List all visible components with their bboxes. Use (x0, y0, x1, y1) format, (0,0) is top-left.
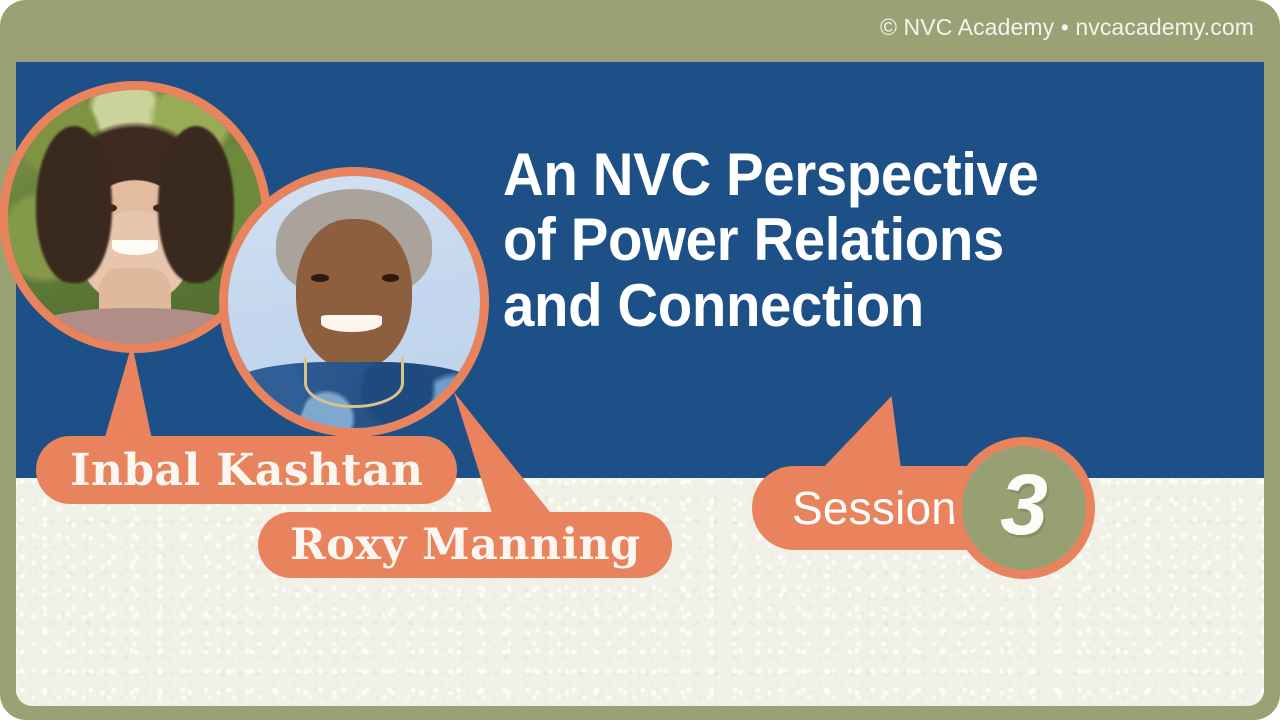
eye-right-shape (382, 274, 400, 282)
slide-canvas: © NVC Academy • nvcacademy.com (0, 0, 1280, 720)
smile-shape (112, 240, 158, 255)
page-title: An NVC Perspective of Power Relations an… (503, 142, 1217, 338)
hair-right-shape (158, 126, 234, 283)
shirt-shape (28, 308, 241, 344)
copyright-notice: © NVC Academy • nvcacademy.com (880, 14, 1254, 41)
speaker-name-label-roxy: Roxy Manning (258, 512, 672, 578)
necklace-shape (304, 357, 405, 407)
face-shape (296, 219, 412, 370)
speaker-name-label-inbal: Inbal Kashtan (36, 436, 457, 504)
portrait-inbal-kashtan (8, 90, 262, 344)
portrait-photo-roxy (228, 176, 480, 428)
title-line-3: and Connection (503, 273, 1217, 338)
hair-left-shape (36, 126, 112, 283)
eye-left-shape (311, 274, 329, 282)
portrait-roxy-manning (228, 176, 480, 428)
session-number-badge: 3 (962, 446, 1086, 570)
title-line-2: of Power Relations (503, 207, 1217, 272)
eye-left-shape (102, 204, 117, 212)
portrait-photo-inbal (8, 90, 262, 344)
session-number: 3 (1000, 462, 1048, 548)
title-line-1: An NVC Perspective (503, 142, 1217, 207)
